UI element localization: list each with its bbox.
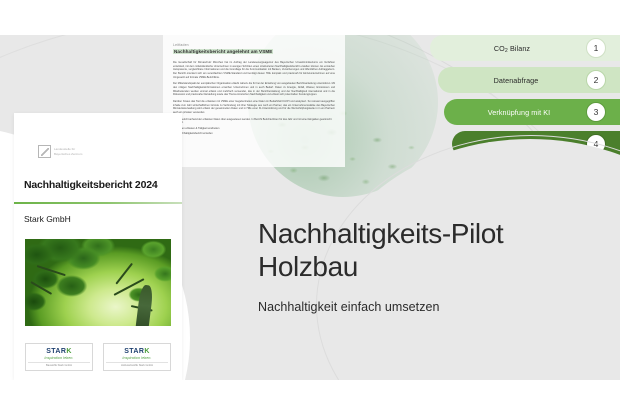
cover-divider	[14, 202, 182, 204]
document-eyebrow: Leitfaden	[173, 43, 189, 47]
document-body: Die Gesellschaft für Klimaschutz München…	[173, 61, 335, 137]
list-item: In Bericht anhand der erfassten Daten üb…	[173, 118, 335, 126]
process-step-number-badge: 2	[586, 70, 606, 90]
process-step-label-main: CO	[494, 44, 505, 53]
tree-canopy-photo	[25, 239, 171, 326]
slide-canvas: Leitfaden Nachhaltigkeitsbericht angeleh…	[0, 35, 620, 380]
process-step-label: Verknüpfung mit KI	[488, 108, 551, 117]
process-step-number-badge: 1	[586, 38, 606, 58]
process-step-datenabfrage[interactable]: Datenabfrage 2	[438, 67, 620, 93]
process-step-verknuepfung-mit-ki[interactable]: Verknüpfung mit KI 3	[444, 99, 620, 125]
document-title: Nachhaltigkeitsbericht angelehnt am VSME	[173, 49, 335, 54]
agency-logo-line2: Bayerisches Zentrum	[54, 152, 82, 156]
partner-logo: STARK Inspiration leben. Holzwerkstoffe …	[103, 343, 171, 371]
process-step-label: CO2 Bilanz	[494, 44, 530, 53]
partner-logo-name: STARK	[28, 348, 90, 355]
cover-company-name: Stark GmbH	[24, 214, 71, 224]
partner-logo-tagline: Inspiration leben.	[28, 356, 90, 360]
agency-logo: Landesstelle für Bayerisches Zentrum	[38, 145, 82, 158]
process-step-label: Veröffentlichung	[500, 172, 553, 181]
partner-logo-subline: Baustoffe Stark GmbH	[28, 362, 90, 368]
agency-logo-mark-icon	[38, 145, 51, 158]
document-paragraph: Die Gesellschaft für Klimaschutz München…	[173, 61, 335, 79]
presentation-slide: Leitfaden Nachhaltigkeitsbericht angeleh…	[0, 0, 620, 415]
agency-logo-text: Landesstelle für Bayerisches Zentrum	[54, 147, 82, 156]
report-cover-card[interactable]: Landesstelle für Bayerisches Zentrum Nac…	[14, 113, 182, 380]
process-step-label-rest: Bilanz	[508, 44, 530, 53]
partner-logo-subline: Holzwerkstoffe Stark GmbH	[106, 362, 168, 368]
process-steps-list: CO2 Bilanz 1 Datenabfrage 2 Verknüpfung …	[430, 35, 620, 195]
document-paragraph: Der Mittelstandspakt der europäischen Or…	[173, 82, 335, 97]
process-step-number-badge: 4	[586, 134, 606, 154]
process-step-co2-bilanz[interactable]: CO2 Bilanz 1	[430, 35, 620, 61]
partner-logo-row: STARK Inspiration leben. Baustoffe Stark…	[25, 343, 171, 371]
partner-logo-name: STARK	[106, 348, 168, 355]
page-title-line1: Nachhaltigkeits-Pilot	[258, 218, 503, 249]
process-step-label: Persönliche Kontrolle	[488, 140, 558, 149]
process-step-label: Datenabfrage	[494, 76, 539, 85]
partner-logo-tagline: Inspiration leben.	[106, 356, 168, 360]
list-item: Nachhaltigkeitsbericht erstellen	[173, 132, 335, 136]
list-item: Daten erfassen & Tätigkeit erarbeiten	[173, 127, 335, 131]
cover-title: Nachhaltigkeitsbericht 2024	[24, 179, 158, 191]
process-step-label-sub: 2	[505, 48, 508, 54]
process-step-number-badge: 5	[586, 166, 606, 186]
partner-logo: STARK Inspiration leben. Baustoffe Stark…	[25, 343, 93, 371]
headline-block: Nachhaltigkeits-PilotHolzbau Nachhaltigk…	[258, 217, 598, 314]
page-title-line2: Holzbau	[258, 251, 358, 282]
document-bullet-list: In Bericht anhand der erfassten Daten üb…	[173, 118, 335, 136]
process-step-persoenliche-kontrolle[interactable]: Persönliche Kontrolle 4	[452, 131, 620, 157]
page-title: Nachhaltigkeits-PilotHolzbau	[258, 217, 598, 283]
process-step-number-badge: 3	[586, 102, 606, 122]
document-preview[interactable]: Leitfaden Nachhaltigkeitsbericht angeleh…	[163, 35, 345, 167]
document-paragraph: Darüber hinaus das Tool die erfassten mi…	[173, 100, 335, 115]
process-step-veroeffentlichung[interactable]: Veröffentlichung 5	[460, 163, 620, 189]
page-subtitle: Nachhaltigkeit einfach umsetzen	[258, 300, 598, 314]
document-title-text: Nachhaltigkeitsbericht angelehnt am VSME	[173, 49, 273, 54]
